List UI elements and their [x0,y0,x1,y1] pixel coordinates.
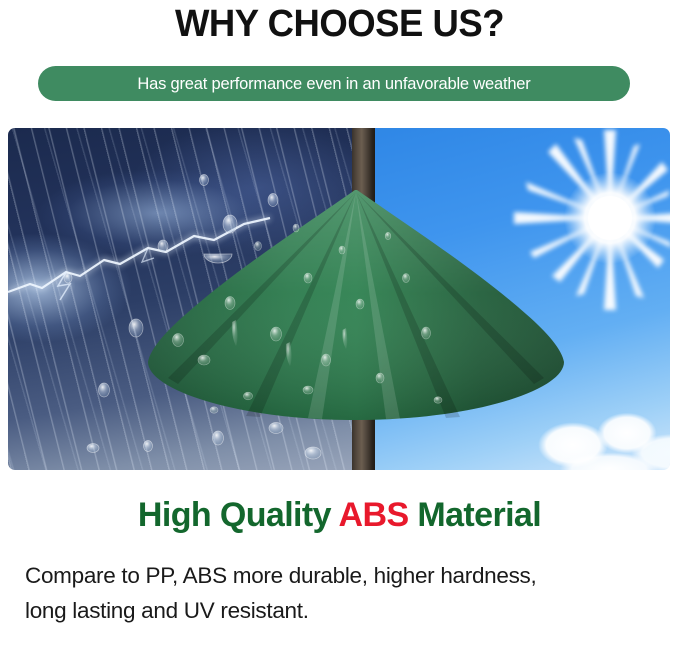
material-headline: High Quality ABS Material [0,494,679,536]
subtitle-pill-banner: Has great performance even in an unfavor… [38,66,630,101]
description-line-2: long lasting and UV resistant. [25,593,661,628]
subtitle-pill-label: Has great performance even in an unfavor… [137,75,530,93]
material-text-part1: High Quality [138,496,339,534]
green-cone-baffle [8,128,670,470]
material-text-highlight: ABS [339,496,409,534]
split-weather-product-photo [8,128,670,470]
description-paragraph: Compare to PP, ABS more durable, higher … [25,558,661,628]
page-title: WHY CHOOSE US? [14,2,666,46]
cone-shape [8,128,670,470]
material-text-part2: Material [409,496,542,534]
description-line-1: Compare to PP, ABS more durable, higher … [25,558,661,593]
product-infographic-page: WHY CHOOSE US? Has great performance eve… [0,0,679,646]
